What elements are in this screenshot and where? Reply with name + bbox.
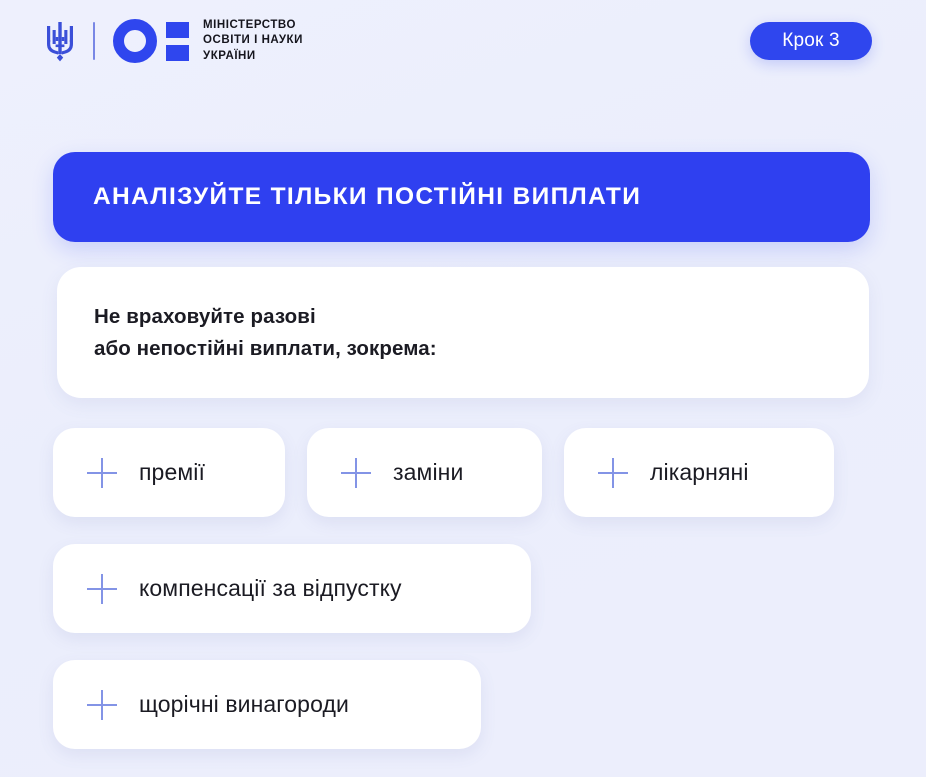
note-line-1: Не враховуйте разові bbox=[94, 301, 869, 332]
mon-emblem bbox=[113, 19, 189, 63]
chip-shchorichni-vynahorody[interactable]: щорічні винагороди bbox=[53, 660, 481, 749]
chip-row: премії заміни лікарняні bbox=[53, 428, 873, 517]
note-line-2: або непостійні виплати, зокрема: bbox=[94, 333, 869, 364]
plus-icon bbox=[87, 574, 117, 604]
plus-icon bbox=[598, 458, 628, 488]
exclusion-chip-list: премії заміни лікарняні компенсації за в… bbox=[53, 428, 873, 749]
chip-row: компенсації за відпустку bbox=[53, 544, 873, 633]
logo-divider bbox=[93, 22, 95, 60]
chip-likarniani[interactable]: лікарняні bbox=[564, 428, 834, 517]
chip-label: компенсації за відпустку bbox=[139, 575, 402, 602]
mon-bars-icon bbox=[166, 22, 189, 61]
banner-title: АНАЛІЗУЙТЕ ТІЛЬКИ ПОСТІЙНІ ВИПЛАТИ bbox=[53, 183, 641, 211]
ministry-name: МІНІСТЕРСТВО ОСВІТИ І НАУКИ УКРАЇНИ bbox=[203, 18, 303, 64]
step-badge[interactable]: Крок 3 bbox=[750, 22, 872, 60]
chip-label: премії bbox=[139, 459, 205, 486]
note-card: Не враховуйте разові або непостійні випл… bbox=[57, 267, 869, 398]
plus-icon bbox=[341, 458, 371, 488]
page-header: МІНІСТЕРСТВО ОСВІТИ І НАУКИ УКРАЇНИ Крок… bbox=[0, 0, 926, 92]
ministry-line-2: ОСВІТИ І НАУКИ bbox=[203, 33, 303, 48]
ministry-logo: МІНІСТЕРСТВО ОСВІТИ І НАУКИ УКРАЇНИ bbox=[45, 13, 303, 69]
ministry-line-3: УКРАЇНИ bbox=[203, 49, 303, 64]
chip-label: лікарняні bbox=[650, 459, 749, 486]
mon-ring-icon bbox=[113, 19, 157, 63]
headline-banner: АНАЛІЗУЙТЕ ТІЛЬКИ ПОСТІЙНІ ВИПЛАТИ bbox=[53, 152, 870, 242]
chip-premii[interactable]: премії bbox=[53, 428, 285, 517]
plus-icon bbox=[87, 458, 117, 488]
plus-icon bbox=[87, 690, 117, 720]
chip-zaminy[interactable]: заміни bbox=[307, 428, 542, 517]
ministry-line-1: МІНІСТЕРСТВО bbox=[203, 18, 303, 33]
slide-root: МІНІСТЕРСТВО ОСВІТИ І НАУКИ УКРАЇНИ Крок… bbox=[0, 0, 926, 777]
chip-row: щорічні винагороди bbox=[53, 660, 873, 749]
chip-kompensatsii-za-vidpustku[interactable]: компенсації за відпустку bbox=[53, 544, 531, 633]
chip-label: заміни bbox=[393, 459, 463, 486]
chip-label: щорічні винагороди bbox=[139, 691, 349, 718]
ukraine-trident-icon bbox=[45, 20, 75, 62]
